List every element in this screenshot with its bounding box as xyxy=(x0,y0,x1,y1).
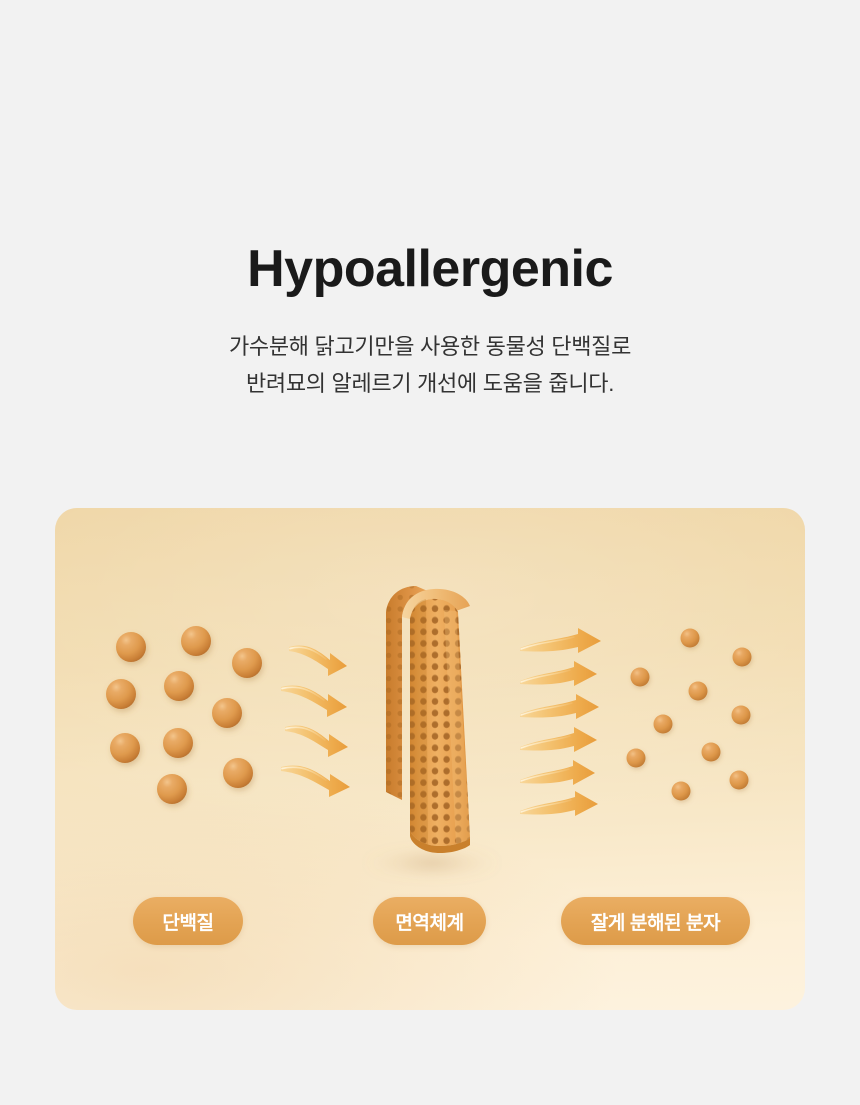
protein-sphere xyxy=(110,733,140,763)
molecule-sphere xyxy=(654,715,673,734)
label-pill-immune-system: 면역체계 xyxy=(373,897,486,945)
label-pill-protein: 단백질 xyxy=(133,897,243,945)
label-pill-small-molecules-text: 잘게 분해된 분자 xyxy=(591,908,720,935)
flow-arrow xyxy=(520,661,597,686)
flow-arrow xyxy=(520,694,599,719)
molecule-sphere xyxy=(689,682,708,701)
protein-sphere xyxy=(212,698,242,728)
flow-arrow xyxy=(289,645,347,676)
flow-arrow xyxy=(281,765,350,797)
molecule-sphere xyxy=(672,782,691,801)
protein-sphere xyxy=(223,758,253,788)
flow-arrows-outbound xyxy=(520,628,601,816)
large-protein-molecules xyxy=(106,626,262,804)
protein-sphere xyxy=(116,632,146,662)
molecule-sphere xyxy=(733,648,752,667)
hydrolyzed-small-molecules xyxy=(627,629,752,801)
immune-barrier-membrane xyxy=(386,586,470,853)
flow-arrow xyxy=(281,685,347,717)
flow-arrow xyxy=(520,628,601,653)
protein-sphere xyxy=(106,679,136,709)
molecule-sphere xyxy=(730,771,749,790)
label-pill-protein-text: 단백질 xyxy=(162,908,213,935)
flow-arrow xyxy=(520,760,595,785)
flow-arrow xyxy=(285,725,348,757)
membrane-drop-shadow xyxy=(364,850,500,876)
protein-sphere xyxy=(164,671,194,701)
flow-arrow xyxy=(520,727,597,752)
label-pill-immune-system-text: 면역체계 xyxy=(395,908,463,935)
molecule-sphere xyxy=(631,668,650,687)
molecule-sphere xyxy=(681,629,700,648)
membrane-front-panel xyxy=(410,599,470,846)
flow-arrows-inbound xyxy=(281,645,350,797)
protein-sphere xyxy=(157,774,187,804)
flow-arrow xyxy=(520,791,598,816)
molecule-sphere xyxy=(627,749,646,768)
protein-sphere xyxy=(163,728,193,758)
label-pill-small-molecules: 잘게 분해된 분자 xyxy=(561,897,750,945)
molecule-sphere xyxy=(732,706,751,725)
page-root: Hypoallergenic 가수분해 닭고기만을 사용한 동물성 단백질로 반… xyxy=(0,0,860,1105)
molecule-sphere xyxy=(702,743,721,762)
protein-sphere xyxy=(181,626,211,656)
protein-sphere xyxy=(232,648,262,678)
